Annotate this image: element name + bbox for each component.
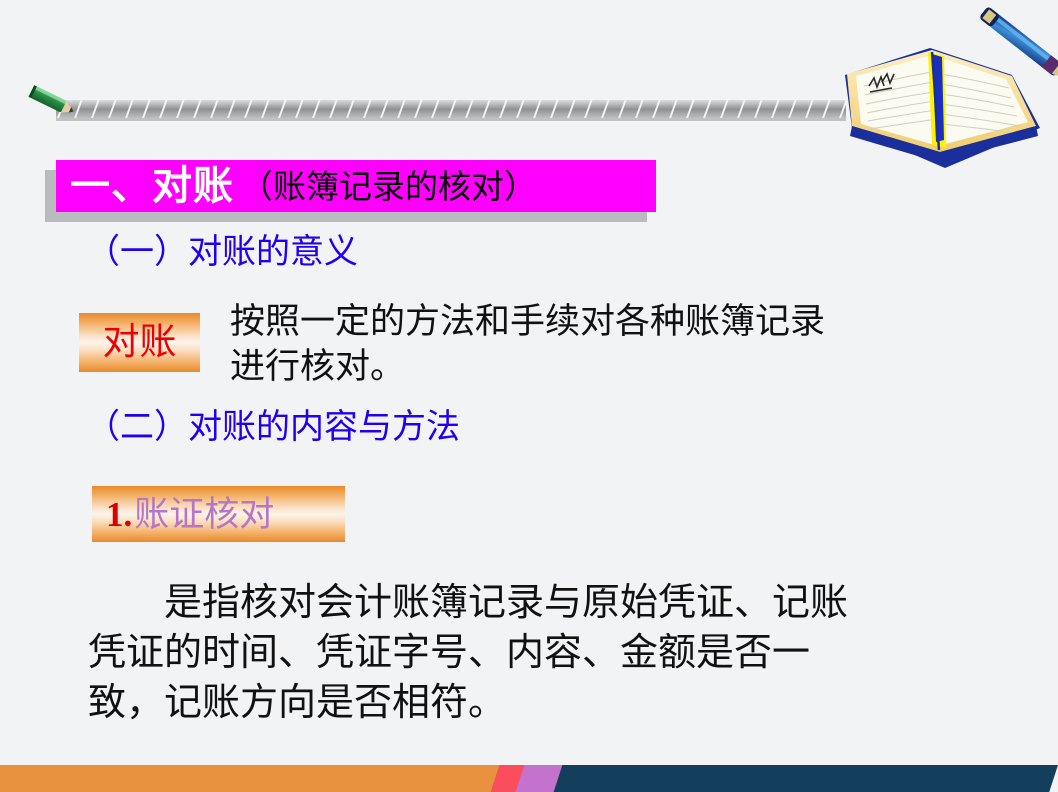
detail-paragraph-text: 是指核对会计账簿记录与原始凭证、记账凭证的时间、凭证字号、内容、金额是否一致，记… (88, 582, 848, 724)
fountain-pen-icon (979, 6, 1058, 87)
section-heading-one: （一）对账的意义 (86, 236, 358, 270)
handwriting-mark (869, 74, 894, 92)
section-heading-two: （二）对账的内容与方法 (86, 411, 460, 445)
zhangzheng-callout-box: 1. 账证核对 (92, 486, 345, 542)
duizhang-callout-label: 对账 (103, 324, 177, 361)
zhangzheng-callout-label: 账证核对 (134, 497, 274, 532)
hatched-rule-icon (56, 100, 846, 121)
definition-paragraph: 按照一定的方法和手续对各种账簿记录进行核对。 (230, 300, 850, 390)
slide-canvas: 一、对账 （账簿记录的核对） （一）对账的意义 对账 按照一定的方法和手续对各种… (0, 0, 1058, 792)
zhangzheng-callout-number: 1. (106, 497, 132, 532)
title-box: 一、对账 （账簿记录的核对） (56, 160, 656, 212)
page-subtitle: （账簿记录的核对） (240, 170, 537, 203)
detail-paragraph: 是指核对会计账簿记录与原始凭证、记账凭证的时间、凭证字号、内容、金额是否一致，记… (88, 578, 848, 728)
bottom-bar-orange-segment (0, 765, 512, 792)
green-pencil-icon (29, 85, 77, 117)
duizhang-callout-box: 对账 (79, 313, 200, 372)
bottom-bar-navy-segment (536, 765, 1058, 792)
page-title: 一、对账 (70, 166, 234, 206)
open-book-icon (845, 6, 1058, 168)
bottom-decorative-bar (0, 765, 1058, 792)
